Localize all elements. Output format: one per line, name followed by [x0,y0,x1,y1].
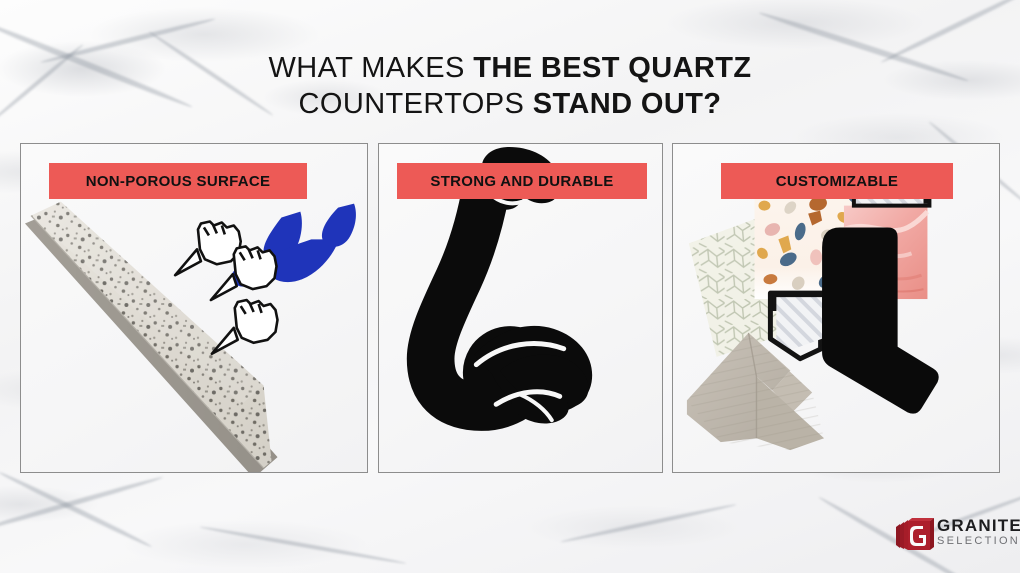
brand-name-primary: GRANITE [937,517,1020,535]
granite-selection-mark-icon [893,513,937,557]
feature-card-non-porous: NON-POROUS SURFACE [20,143,368,473]
fist-3 [212,300,278,354]
page-title-line1-bold: THE BEST QUARTZ [473,52,751,84]
beige-corner-sample [687,333,824,450]
brand-name-secondary: SELECTION [937,535,1020,548]
card-badge-customizable: CUSTOMIZABLE [721,163,953,199]
page-title-line2-bold: STAND OUT? [533,88,722,120]
card-badge-label: NON-POROUS SURFACE [86,173,271,190]
page-title-line-1: WHAT MAKES THE BEST QUARTZ [0,50,1020,86]
brand-logo[interactable]: GRANITE SELECTION [893,513,1013,561]
feature-card-customizable: CUSTOMIZABLE [672,143,1000,473]
page-title-line1-light: WHAT MAKES [268,52,473,84]
page-title: WHAT MAKES THE BEST QUARTZ COUNTERTOPS S… [0,50,1020,122]
page-title-line2-light: COUNTERTOPS [299,88,533,120]
feature-card-strong-durable: STRONG AND DURABLE [378,143,663,473]
card-badge-label: CUSTOMIZABLE [776,173,899,190]
card-badge-non-porous: NON-POROUS SURFACE [49,163,307,199]
fist-1 [175,222,241,276]
card-badge-label: STRONG AND DURABLE [430,173,613,190]
brand-logo-text: GRANITE SELECTION [937,517,1020,548]
card-badge-strong-durable: STRONG AND DURABLE [397,163,647,199]
page-title-line-2: COUNTERTOPS STAND OUT? [0,86,1020,122]
infographic-canvas: WHAT MAKES THE BEST QUARTZ COUNTERTOPS S… [0,0,1020,573]
